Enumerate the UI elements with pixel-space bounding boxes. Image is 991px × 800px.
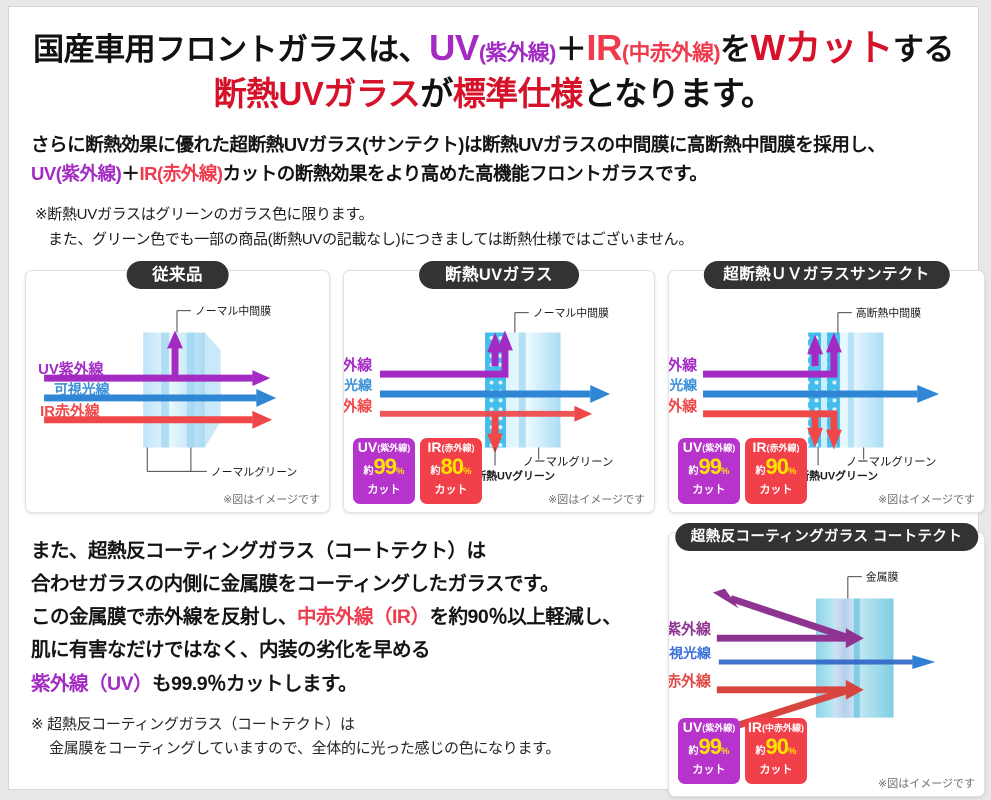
badge-uv-value: 約99% <box>678 735 740 763</box>
ray-label-ir: IR赤外線 <box>344 397 372 415</box>
image-note-suntect: ※図はイメージです <box>878 491 975 507</box>
coatect-line5-b: も99.9％カットします。 <box>152 673 357 695</box>
coatect-line-5: 紫外線（UV）も99.9％カットします。 <box>31 668 671 701</box>
infographic-page: 国産車用フロントガラスは、UV(紫外線)＋IR(中赤外線)をWカットする 断熱U… <box>8 6 979 790</box>
badge-ir-value: 約90% <box>745 735 807 763</box>
top-note-line-1: ※断熱UVガラスはグリーンのガラス色に限ります。 <box>35 206 373 223</box>
callout-uv-green: 断熱UVグリーン <box>475 468 555 482</box>
headline-narimasu: となります。 <box>583 75 774 112</box>
intro-paragraph: さらに断熱効果に優れた超断熱UVガラス(サンテクト)は断熱UVガラスの中間膜に高… <box>31 130 956 188</box>
diagram-conventional: ノーマル中間膜 UV紫外線 可視光線 IR赤外線 <box>26 271 329 512</box>
badge-uv-value: 約99% <box>353 455 415 483</box>
callout-interlayer: ノーマル中間膜 <box>533 307 609 320</box>
callout-normal-green: ノーマルグリーン <box>846 454 937 468</box>
headline-wcut: Wカット <box>751 27 893 68</box>
headline-text-a: 国産車用フロントガラスは、 <box>33 32 429 67</box>
image-note-coatect: ※図はイメージです <box>878 775 975 791</box>
badge-uv-title: UV(紫外線) <box>678 721 740 735</box>
headline-ir-paren: (中赤外線) <box>622 40 720 65</box>
coatect-line-2: 合わせガラスの内側に金属膜をコーティングしたガラスです。 <box>31 568 671 601</box>
image-note-uvcut: ※図はイメージです <box>548 491 645 507</box>
badge-ir-title: IR(中赤外線) <box>745 721 807 735</box>
badge-ir: IR(赤外線) 約90% カット <box>745 438 807 504</box>
coatect-uv-highlight: 紫外線（UV） <box>31 673 152 695</box>
intro-uv: UV(紫外線) <box>31 163 121 184</box>
headline-product: 断熱UVガラス <box>214 75 421 112</box>
badge-ir: IR(中赤外線) 約90% カット <box>745 718 807 784</box>
badge-ir-value: 約80% <box>420 455 482 483</box>
badge-uv-title: UV(紫外線) <box>353 441 415 455</box>
badge-ir-cut: カット <box>745 483 807 497</box>
callout-interlayer: ノーマル中間膜 <box>195 305 271 318</box>
panel-conventional: 従来品 ノーマル中間膜 <box>25 270 330 513</box>
ray-label-ir: IR赤外線 <box>669 397 697 415</box>
panel-suntect: 超断熱ＵＶガラスサンテクト <box>668 270 985 513</box>
panel-uvcut: 断熱UVガラス ノーマル <box>343 270 655 513</box>
coatect-line-1: また、超熱反コーティングガラス（コートテクト）は <box>31 535 671 568</box>
badge-ir-value: 約90% <box>745 455 807 483</box>
panel-row: 従来品 ノーマル中間膜 <box>25 260 985 515</box>
coatect-line-3: この金属膜で赤外線を反射し、中赤外線（IR）を約90％以上軽減し、 <box>31 601 671 634</box>
ray-label-visible: 可視光線 <box>344 377 372 393</box>
badge-uv-title: UV(紫外線) <box>678 441 740 455</box>
badge-ir-cut: カット <box>420 483 482 497</box>
coatect-description: また、超熱反コーティングガラス（コートテクト）は 合わせガラスの内側に金属膜をコ… <box>31 535 671 761</box>
badge-uv: UV(紫外線) 約99% カット <box>678 438 740 504</box>
ray-label-uv: UV紫外線 <box>38 360 103 378</box>
badge-ir-title: IR(赤外線) <box>420 441 482 455</box>
badges-suntect: UV(紫外線) 約99% カット IR(赤外線) 約90% カット <box>678 438 807 504</box>
badge-uv: UV(紫外線) 約99% カット <box>678 718 740 784</box>
top-note-line-2: また、グリーン色でも一部の商品(断熱UVの記載なし)につきましては断熱仕様ではご… <box>35 228 956 253</box>
main-headline: 国産車用フロントガラスは、UV(紫外線)＋IR(中赤外線)をWカットする 断熱U… <box>9 7 978 116</box>
callout-normal-green: ノーマルグリーン <box>211 464 298 478</box>
ray-label-uv: UV紫外線 <box>669 620 712 638</box>
callout-metal-film: 金属膜 <box>866 571 899 584</box>
ray-label-visible: 可視光線 <box>669 645 711 661</box>
intro-ir: IR(赤外線) <box>139 163 222 184</box>
badge-ir: IR(赤外線) 約80% カット <box>420 438 482 504</box>
headline-ga: が <box>420 75 453 112</box>
intro-line-2: UV(紫外線)＋IR(赤外線)カットの断熱効果をより高めた高機能フロントガラスで… <box>31 159 956 188</box>
headline-uv-paren: (紫外線) <box>479 40 556 65</box>
headline-line-1: 国産車用フロントガラスは、UV(紫外線)＋IR(中赤外線)をWカットする <box>9 23 978 72</box>
badge-uv-value: 約99% <box>678 455 740 483</box>
badge-uv-cut: カット <box>678 763 740 777</box>
ray-label-visible: 可視光線 <box>54 381 110 397</box>
intro-line-1: さらに断熱効果に優れた超断熱UVガラス(サンテクト)は断熱UVガラスの中間膜に高… <box>31 130 956 159</box>
callout-uv-green: 断熱UVグリーン <box>798 468 878 482</box>
ray-label-visible: 可視光線 <box>669 377 697 393</box>
badge-uv-cut: カット <box>678 483 740 497</box>
coatect-line3-b: を約90％以上軽減し、 <box>430 606 622 628</box>
headline-line-2: 断熱UVガラスが標準仕様となります。 <box>9 72 978 116</box>
coatect-line-4: 肌に有害なだけではなく、内装の劣化を早める <box>31 634 671 667</box>
intro-plus: ＋ <box>121 163 139 184</box>
headline-ir: IR <box>586 27 622 68</box>
ray-label-ir: IR中赤外線 <box>669 672 712 690</box>
ray-label-uv: UV紫外線 <box>344 356 372 374</box>
ray-label-uv: UV紫外線 <box>669 356 697 374</box>
badge-uv: UV(紫外線) 約99% カット <box>353 438 415 504</box>
coatect-ir-highlight: 中赤外線（IR） <box>297 606 430 628</box>
callout-normal-green: ノーマルグリーン <box>523 454 614 468</box>
image-note-conventional: ※図はイメージです <box>223 491 320 507</box>
intro-rest: カットの断熱効果をより高めた高機能フロントガラスです。 <box>223 163 708 184</box>
callout-interlayer: 高断熱中間膜 <box>856 306 921 320</box>
headline-wo: を <box>720 32 751 67</box>
coatect-note-line-1: ※ 超熱反コーティングガラス（コートテクト）は <box>31 716 355 733</box>
badge-ir-title: IR(赤外線) <box>745 441 807 455</box>
headline-suru: する <box>893 32 954 67</box>
coatect-note: ※ 超熱反コーティングガラス（コートテクト）は 金属膜をコーティングしていますの… <box>31 713 671 762</box>
badge-uv-cut: カット <box>353 483 415 497</box>
coatect-note-line-2: 金属膜をコーティングしていますので、全体的に光った感じの色になります。 <box>31 737 671 761</box>
badges-uvcut: UV(紫外線) 約99% カット IR(赤外線) 約80% カット <box>353 438 482 504</box>
badge-ir-cut: カット <box>745 763 807 777</box>
headline-uv: UV <box>429 27 479 68</box>
headline-standard: 標準仕様 <box>453 75 583 112</box>
ray-label-ir: IR赤外線 <box>40 402 100 420</box>
coatect-line3-a: この金属膜で赤外線を反射し、 <box>31 606 297 628</box>
top-note: ※断熱UVガラスはグリーンのガラス色に限ります。 また、グリーン色でも一部の商品… <box>35 203 956 253</box>
headline-plus: ＋ <box>556 32 587 67</box>
coatect-main-text: また、超熱反コーティングガラス（コートテクト）は 合わせガラスの内側に金属膜をコ… <box>31 535 671 701</box>
panel-coatect: 超熱反コーティングガラス コートテクト 金属膜 <box>668 532 985 797</box>
badges-coatect: UV(紫外線) 約99% カット IR(中赤外線) 約90% カット <box>678 718 807 784</box>
